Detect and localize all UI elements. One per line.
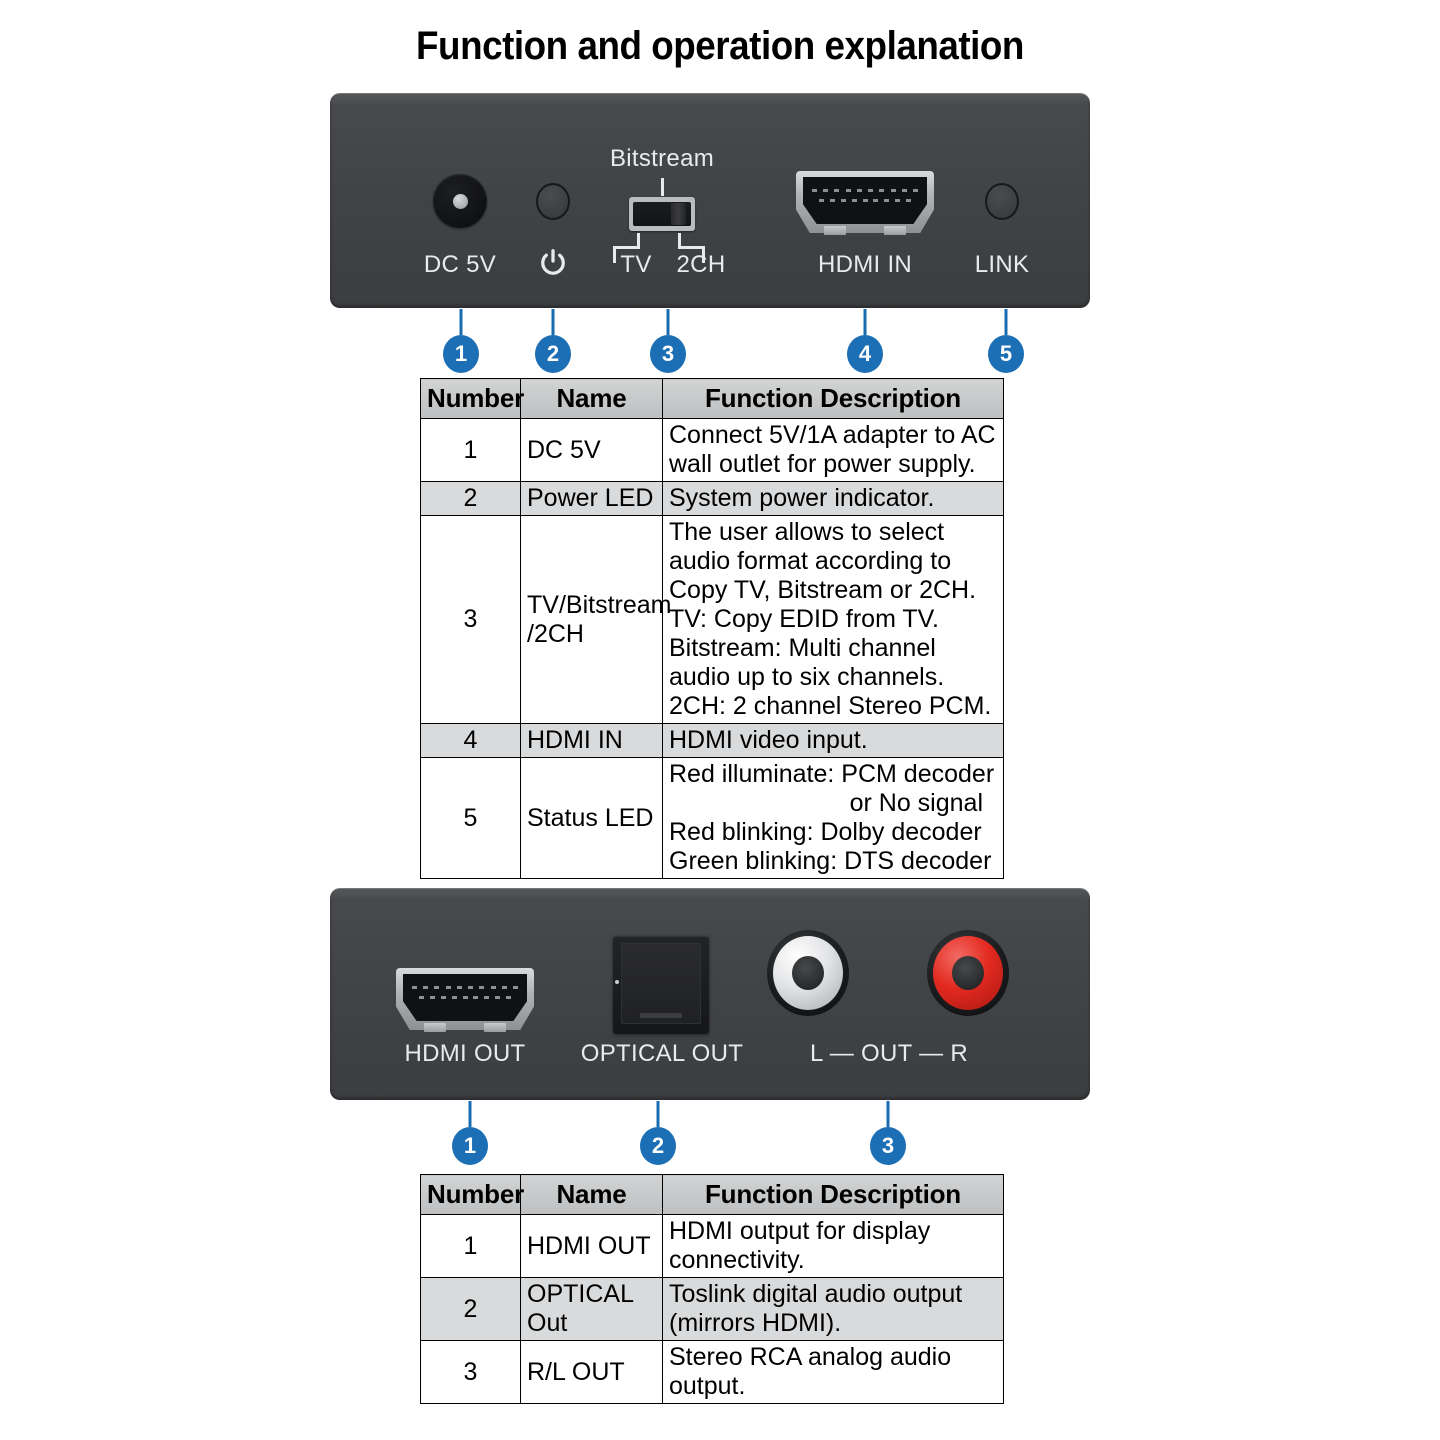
header-number: Number	[421, 379, 521, 419]
hdmi-pins	[412, 986, 518, 1006]
switch-tick-left-horiz	[613, 246, 640, 249]
switch-tick-center	[661, 178, 664, 196]
front-panel: DC 5V Bitstream TV 2CH	[330, 93, 1090, 308]
cell-description: Connect 5V/1A adapter to AC wall outlet …	[663, 419, 1004, 482]
callout-leader-line	[1005, 309, 1008, 335]
callout-bubble: 1	[452, 1127, 488, 1165]
table-row: 3 TV/Bitstream /2CH The user allows to s…	[421, 516, 1004, 724]
status-line-2: or No signal	[669, 789, 997, 818]
hdmi-out-port-icon	[396, 968, 534, 1030]
hdmi-in-port-icon	[796, 171, 934, 233]
hdmi-tab-right	[884, 226, 906, 235]
cell-number: 1	[421, 1215, 521, 1278]
rear-panel: HDMI OUT OPTICAL OUT L — OUT — R	[330, 888, 1090, 1100]
cell-name: OPTICAL Out	[521, 1278, 663, 1341]
header-description: Function Description	[663, 1175, 1004, 1215]
callout-bubble: 3	[650, 335, 686, 373]
cell-name: DC 5V	[521, 419, 663, 482]
status-line-1: Red illuminate: PCM decoder	[669, 760, 994, 788]
switch-label-2ch: 2CH	[677, 251, 726, 279]
cell-name: HDMI IN	[521, 724, 663, 758]
hdmi-out-label: HDMI OUT	[404, 1040, 525, 1068]
rca-center-hole	[792, 956, 824, 990]
cell-name: Status LED	[521, 758, 663, 879]
optical-shutter-door	[621, 943, 701, 1024]
front-panel-table: Number Name Function Description 1 DC 5V…	[420, 378, 1004, 879]
cell-description: System power indicator.	[663, 482, 1004, 516]
callout-bubble: 5	[988, 335, 1024, 373]
callout-bubble: 4	[847, 335, 883, 373]
header-number: Number	[421, 1175, 521, 1215]
cell-description: HDMI video input.	[663, 724, 1004, 758]
link-led-indicator	[985, 183, 1019, 220]
switch-knob[interactable]	[671, 203, 686, 225]
callout-bubble: 3	[870, 1127, 906, 1165]
callout-leader-line	[887, 1101, 890, 1127]
table-row: 1 DC 5V Connect 5V/1A adapter to AC wall…	[421, 419, 1004, 482]
table-row: 3 R/L OUT Stereo RCA analog audio output…	[421, 1341, 1004, 1404]
header-description: Function Description	[663, 379, 1004, 419]
table-row: 2 Power LED System power indicator.	[421, 482, 1004, 516]
cell-number: 2	[421, 482, 521, 516]
rca-center-hole	[952, 956, 984, 990]
callout-leader-line	[552, 309, 555, 335]
rca-jack-left-icon	[767, 930, 849, 1016]
hdmi-tab-left	[824, 226, 846, 235]
dc-pin-icon	[453, 194, 468, 209]
cell-number: 1	[421, 419, 521, 482]
switch-label-tv: TV	[620, 251, 651, 279]
table-row: 4 HDMI IN HDMI video input.	[421, 724, 1004, 758]
cell-description: Red illuminate: PCM decoder or No signal…	[663, 758, 1004, 879]
link-label: LINK	[975, 251, 1030, 279]
cell-number: 3	[421, 516, 521, 724]
header-name: Name	[521, 379, 663, 419]
hdmi-in-label: HDMI IN	[818, 251, 912, 279]
cell-name: R/L OUT	[521, 1341, 663, 1404]
callout-bubble: 1	[443, 335, 479, 373]
page-root: Function and operation explanation DC 5V…	[0, 0, 1440, 1440]
table-header-row: Number Name Function Description	[421, 379, 1004, 419]
switch-tick-left-down	[613, 246, 616, 263]
dc-port-label: DC 5V	[424, 251, 496, 279]
table-row: 5 Status LED Red illuminate: PCM decoder…	[421, 758, 1004, 879]
cell-number: 2	[421, 1278, 521, 1341]
cell-name: TV/Bitstream /2CH	[521, 516, 663, 724]
cell-name: Power LED	[521, 482, 663, 516]
status-line-3: Red blinking: Dolby decoder	[669, 818, 982, 846]
switch-tick-right-horiz	[678, 246, 705, 249]
callout-leader-line	[667, 309, 670, 335]
optical-out-label: OPTICAL OUT	[581, 1040, 743, 1068]
power-symbol-icon	[538, 248, 568, 278]
status-line-4: Green blinking: DTS decoder	[669, 847, 991, 875]
hdmi-tab-left	[424, 1023, 446, 1032]
header-name: Name	[521, 1175, 663, 1215]
cell-number: 5	[421, 758, 521, 879]
switch-label-bitstream: Bitstream	[610, 145, 714, 173]
callout-bubble: 2	[640, 1127, 676, 1165]
table-header-row: Number Name Function Description	[421, 1175, 1004, 1215]
callout-bubble: 2	[535, 335, 571, 373]
cell-description: Toslink digital audio output (mirrors HD…	[663, 1278, 1004, 1341]
cell-number: 3	[421, 1341, 521, 1404]
cell-description: Stereo RCA analog audio output.	[663, 1341, 1004, 1404]
callout-leader-line	[469, 1101, 472, 1127]
optical-slot	[640, 1013, 682, 1018]
dc-barrel-jack-icon	[433, 174, 487, 228]
hdmi-tab-right	[484, 1023, 506, 1032]
cell-number: 4	[421, 724, 521, 758]
rear-panel-table: Number Name Function Description 1 HDMI …	[420, 1174, 1004, 1404]
callout-leader-line	[460, 309, 463, 335]
cell-name: HDMI OUT	[521, 1215, 663, 1278]
toslink-port-icon	[613, 936, 709, 1034]
page-title: Function and operation explanation	[58, 24, 1383, 69]
rca-out-label: L — OUT — R	[810, 1040, 968, 1068]
cell-description: The user allows to select audio format a…	[663, 516, 1004, 724]
cell-description: HDMI output for display connectivity.	[663, 1215, 1004, 1278]
callout-leader-line	[657, 1101, 660, 1127]
hdmi-pins	[812, 189, 918, 209]
callout-leader-line	[864, 309, 867, 335]
switch-recess	[633, 202, 691, 226]
power-led-indicator	[536, 183, 570, 220]
rca-jack-right-icon	[927, 930, 1009, 1016]
optical-notch	[615, 980, 619, 984]
table-row: 1 HDMI OUT HDMI output for display conne…	[421, 1215, 1004, 1278]
slide-switch-icon[interactable]	[629, 197, 695, 231]
table-row: 2 OPTICAL Out Toslink digital audio outp…	[421, 1278, 1004, 1341]
